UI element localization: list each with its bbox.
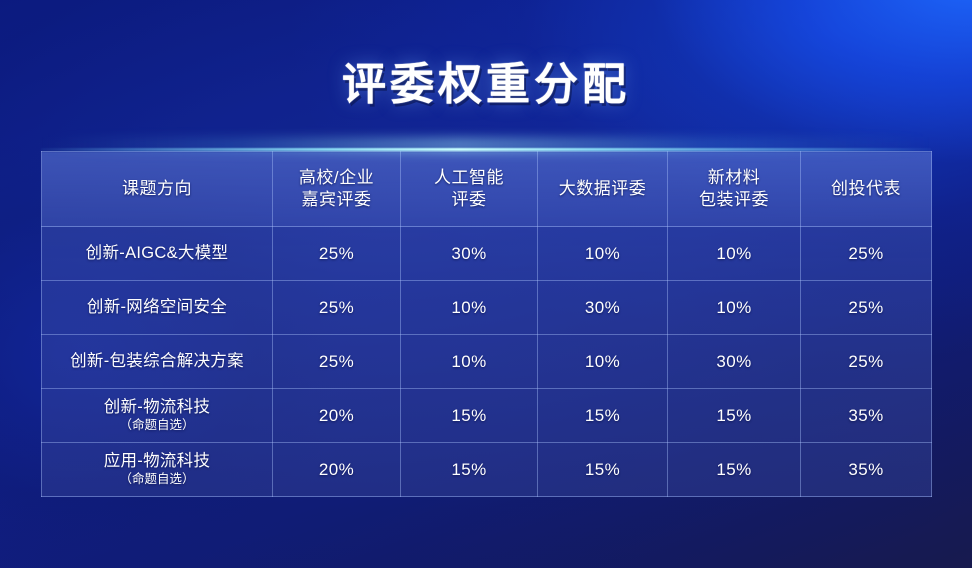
cell-weight: 10% — [401, 281, 538, 335]
cell-weight: 10% — [668, 281, 801, 335]
subject-label: 创新-物流科技 — [104, 398, 211, 416]
cell-subject: 应用-物流科技 （命题自选） — [42, 443, 273, 497]
column-header-subject-label: 课题方向 — [122, 179, 192, 198]
column-header-bigdata-judges: 大数据评委 — [538, 152, 668, 227]
cell-subject: 创新-包装综合解决方案 — [42, 335, 273, 389]
cell-weight: 30% — [668, 335, 801, 389]
cell-subject: 创新-物流科技 （命题自选） — [42, 389, 273, 443]
column-header-venture-capital-rep: 创投代表 — [801, 152, 932, 227]
column-header-bigdata-label: 大数据评委 — [559, 179, 647, 198]
cell-subject: 创新-网络空间安全 — [42, 281, 273, 335]
subject-label: 应用-物流科技 — [104, 452, 211, 470]
cell-weight: 10% — [668, 227, 801, 281]
header-line-1: 人工智能 — [434, 168, 504, 187]
table-row: 应用-物流科技 （命题自选） 20% 15% 15% 15% 35% — [42, 443, 932, 497]
cell-weight: 25% — [273, 227, 401, 281]
subject-label: 创新-包装综合解决方案 — [70, 352, 244, 370]
slide-background: 评委权重分配 课题方向 高校/企业 嘉宾评委 人工智能 — [0, 0, 972, 568]
cell-weight: 25% — [801, 227, 932, 281]
cell-weight: 15% — [538, 443, 668, 497]
table-row: 创新-网络空间安全 25% 10% 30% 10% 25% — [42, 281, 932, 335]
table-body: 创新-AIGC&大模型 25% 30% 10% 10% 25% 创新-网络空间安… — [42, 227, 932, 497]
cell-weight: 30% — [401, 227, 538, 281]
cell-weight: 15% — [401, 443, 538, 497]
cell-weight: 25% — [273, 281, 401, 335]
column-header-ai-judges: 人工智能 评委 — [401, 152, 538, 227]
cell-subject: 创新-AIGC&大模型 — [42, 227, 273, 281]
cell-weight: 10% — [538, 335, 668, 389]
column-header-vc-label: 创投代表 — [831, 179, 901, 198]
header-line-2: 包装评委 — [699, 190, 769, 209]
cell-weight: 15% — [668, 389, 801, 443]
subject-note: （命题自选） — [42, 418, 272, 433]
cell-weight: 10% — [401, 335, 538, 389]
subject-label: 创新-AIGC&大模型 — [86, 244, 229, 262]
cell-weight: 15% — [668, 443, 801, 497]
cell-weight: 20% — [273, 389, 401, 443]
column-header-newmaterial-packaging-judges: 新材料 包装评委 — [668, 152, 801, 227]
column-header-subject: 课题方向 — [42, 152, 273, 227]
cell-weight: 25% — [273, 335, 401, 389]
subject-label: 创新-网络空间安全 — [87, 298, 227, 316]
cell-weight: 15% — [401, 389, 538, 443]
table-header-row: 课题方向 高校/企业 嘉宾评委 人工智能 评委 大数据评委 新材料 — [42, 152, 932, 227]
table-row: 创新-物流科技 （命题自选） 20% 15% 15% 15% 35% — [42, 389, 932, 443]
cell-weight: 25% — [801, 335, 932, 389]
cell-weight: 35% — [801, 389, 932, 443]
table-header: 课题方向 高校/企业 嘉宾评委 人工智能 评委 大数据评委 新材料 — [42, 152, 932, 227]
cell-weight: 35% — [801, 443, 932, 497]
column-header-university-enterprise-judges: 高校/企业 嘉宾评委 — [273, 152, 401, 227]
judge-weights-table: 课题方向 高校/企业 嘉宾评委 人工智能 评委 大数据评委 新材料 — [41, 151, 932, 497]
header-line-2: 评委 — [452, 190, 487, 209]
cell-weight: 20% — [273, 443, 401, 497]
table-row: 创新-包装综合解决方案 25% 10% 10% 30% 25% — [42, 335, 932, 389]
cell-weight: 25% — [801, 281, 932, 335]
header-line-1: 新材料 — [708, 168, 761, 187]
cell-weight: 15% — [538, 389, 668, 443]
table-row: 创新-AIGC&大模型 25% 30% 10% 10% 25% — [42, 227, 932, 281]
cell-weight: 10% — [538, 227, 668, 281]
page-title: 评委权重分配 — [0, 48, 972, 112]
header-line-1: 高校/企业 — [299, 168, 374, 187]
header-line-2: 嘉宾评委 — [302, 190, 372, 209]
subject-note: （命题自选） — [42, 472, 272, 487]
cell-weight: 30% — [538, 281, 668, 335]
weights-table-container: 课题方向 高校/企业 嘉宾评委 人工智能 评委 大数据评委 新材料 — [41, 151, 931, 496]
